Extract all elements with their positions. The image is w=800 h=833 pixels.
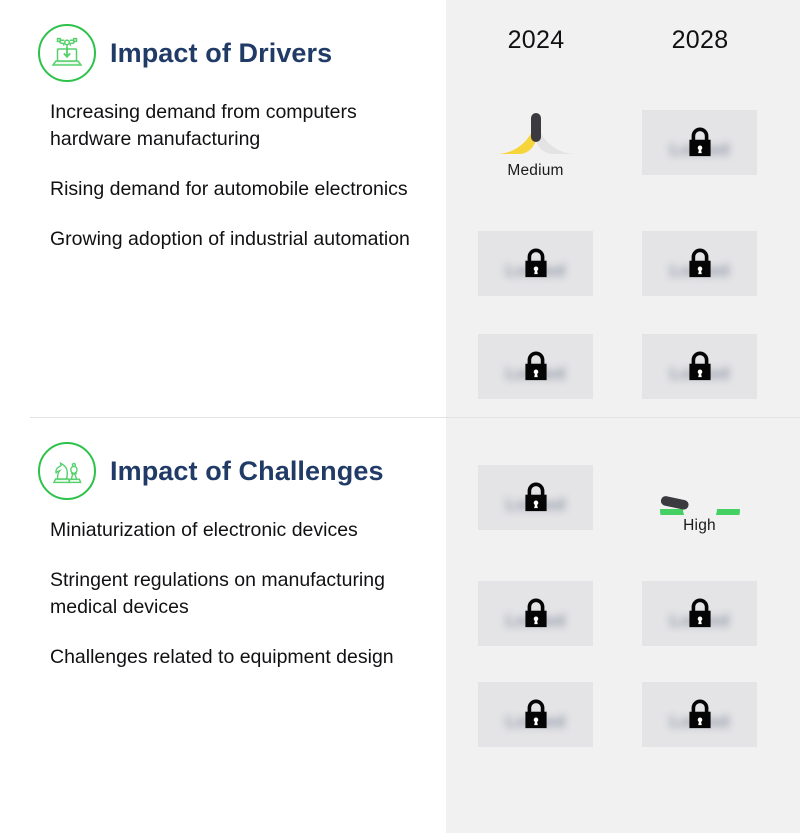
- column-header-2024: 2024: [466, 26, 606, 55]
- laptop-chip-download-icon: [38, 24, 96, 82]
- gauge-indicator: High: [642, 465, 757, 530]
- section-header-drivers: Impact of Drivers: [0, 21, 446, 85]
- locked-value[interactable]: Locked: [642, 682, 757, 747]
- gauge-indicator: Medium: [478, 110, 593, 175]
- list-item: Miniaturization of electronic devices: [50, 517, 410, 544]
- locked-cell[interactable]: Locked: [478, 682, 593, 747]
- locked-cell[interactable]: Locked: [478, 334, 593, 399]
- locked-cell[interactable]: Locked: [478, 465, 593, 530]
- gauge-cell: High: [642, 465, 757, 530]
- locked-value[interactable]: Locked: [478, 581, 593, 646]
- locked-value[interactable]: Locked: [478, 231, 593, 296]
- section-challenges: Impact of Challenges Miniaturization of …: [0, 418, 446, 671]
- chess-pieces-icon: [38, 442, 96, 500]
- list-item: Rising demand for automobile electronics: [50, 176, 410, 203]
- locked-value[interactable]: Locked: [642, 581, 757, 646]
- driver-item-list: Increasing demand from computers hardwar…: [0, 99, 446, 253]
- list-item: Stringent regulations on manufacturing m…: [50, 567, 410, 621]
- locked-cell[interactable]: Locked: [642, 334, 757, 399]
- section-header-challenges: Impact of Challenges: [0, 439, 446, 503]
- locked-value[interactable]: Locked: [642, 334, 757, 399]
- locked-value[interactable]: Locked: [478, 682, 593, 747]
- list-item: Challenges related to equipment design: [50, 644, 410, 671]
- locked-cell[interactable]: Locked: [642, 110, 757, 175]
- locked-value[interactable]: Locked: [478, 465, 593, 530]
- locked-cell[interactable]: Locked: [642, 231, 757, 296]
- section-title-challenges: Impact of Challenges: [110, 456, 384, 487]
- gauge-level-label: High: [642, 517, 757, 535]
- locked-cell[interactable]: Locked: [642, 581, 757, 646]
- locked-value[interactable]: Locked: [642, 231, 757, 296]
- locked-value[interactable]: Locked: [642, 110, 757, 175]
- challenge-item-list: Miniaturization of electronic devices St…: [0, 517, 446, 671]
- locked-cell[interactable]: Locked: [642, 682, 757, 747]
- list-item: Increasing demand from computers hardwar…: [50, 99, 410, 153]
- locked-value[interactable]: Locked: [478, 334, 593, 399]
- section-drivers: Impact of Drivers Increasing demand from…: [0, 0, 446, 253]
- locked-cell[interactable]: Locked: [478, 581, 593, 646]
- column-header-2028: 2028: [630, 26, 770, 55]
- locked-cell[interactable]: Locked: [478, 231, 593, 296]
- impact-matrix: 2024 2028: [0, 0, 800, 833]
- list-item: Growing adoption of industrial automatio…: [50, 226, 410, 253]
- gauge-cell: Medium: [478, 110, 593, 175]
- gauge-level-label: Medium: [478, 162, 593, 180]
- section-title-drivers: Impact of Drivers: [110, 38, 332, 69]
